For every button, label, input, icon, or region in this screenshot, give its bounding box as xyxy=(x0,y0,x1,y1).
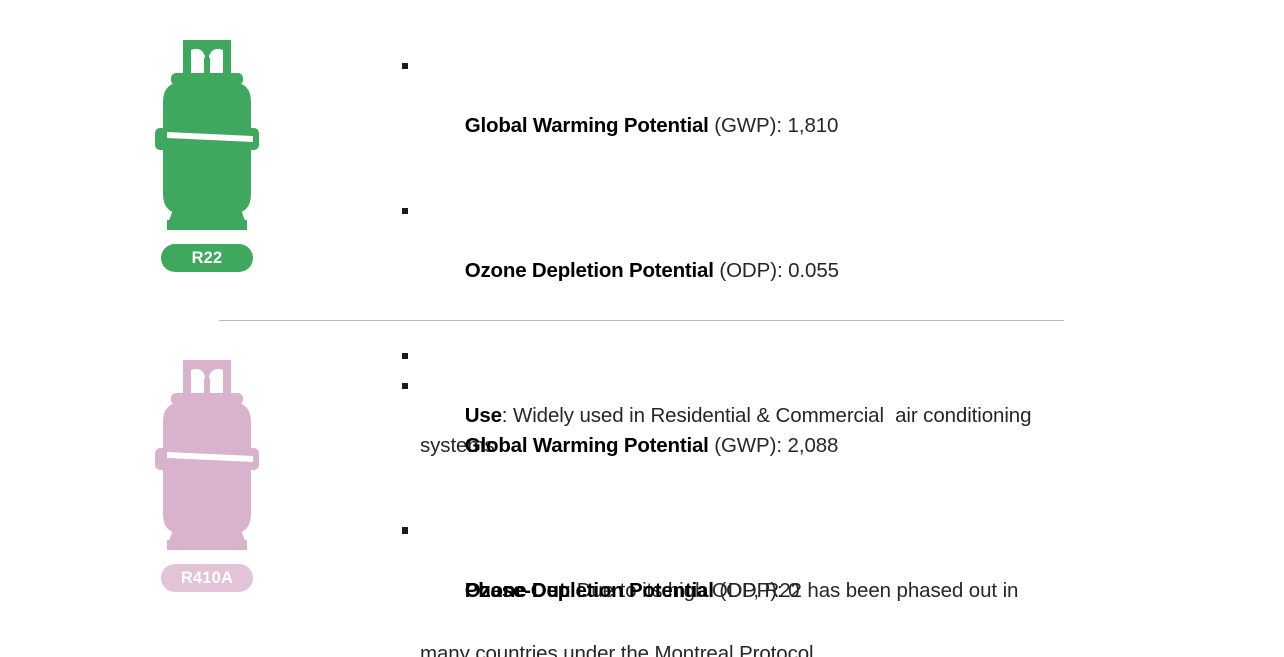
bullet-square-icon xyxy=(402,353,408,359)
fact-value: (ODP): 0.055 xyxy=(714,259,839,282)
fact-label: Ozone Depletion Potential xyxy=(465,579,714,602)
refrigerant-label-pill: R410A xyxy=(161,564,253,592)
fact-label: Global Warming Potential xyxy=(465,434,709,457)
gas-cylinder-icon xyxy=(141,40,273,232)
refrigerant-label-text: R22 xyxy=(192,250,223,267)
fact-value: (GWP): 1,810 xyxy=(709,114,839,137)
icon-column-r22: R22 xyxy=(0,40,400,272)
bullet-square-icon xyxy=(402,528,408,534)
section-divider xyxy=(219,320,1064,321)
refrigerant-section-r410a: R410A Global Warming Potential (GWP): 2,… xyxy=(0,360,1284,657)
facts-column-r410a: Global Warming Potential (GWP): 2,088 Oz… xyxy=(400,360,1284,657)
fact-item: Global Warming Potential (GWP): 1,810 xyxy=(400,52,1084,171)
refrigerant-label-pill: R22 xyxy=(161,244,253,272)
bullet-square-icon xyxy=(402,208,408,214)
fact-value: (ODP): 0 xyxy=(714,579,800,602)
fact-value: (GWP): 2,088 xyxy=(709,434,839,457)
fact-item: Ozone Depletion Potential (ODP): 0 xyxy=(400,517,1084,636)
icon-column-r410a: R410A xyxy=(0,360,400,592)
fact-item: Ozone Depletion Potential (ODP): 0.055 xyxy=(400,197,1084,316)
gas-cylinder-icon xyxy=(141,360,273,552)
fact-label: Ozone Depletion Potential xyxy=(465,259,714,282)
bullet-square-icon xyxy=(402,63,408,69)
fact-item: Global Warming Potential (GWP): 2,088 xyxy=(400,372,1084,491)
bullet-square-icon xyxy=(402,383,408,389)
refrigerant-label-text: R410A xyxy=(181,570,233,587)
refrigerant-comparison-page: R22 Global Warming Potential (GWP): 1,81… xyxy=(0,0,1284,657)
fact-label: Global Warming Potential xyxy=(465,114,709,137)
